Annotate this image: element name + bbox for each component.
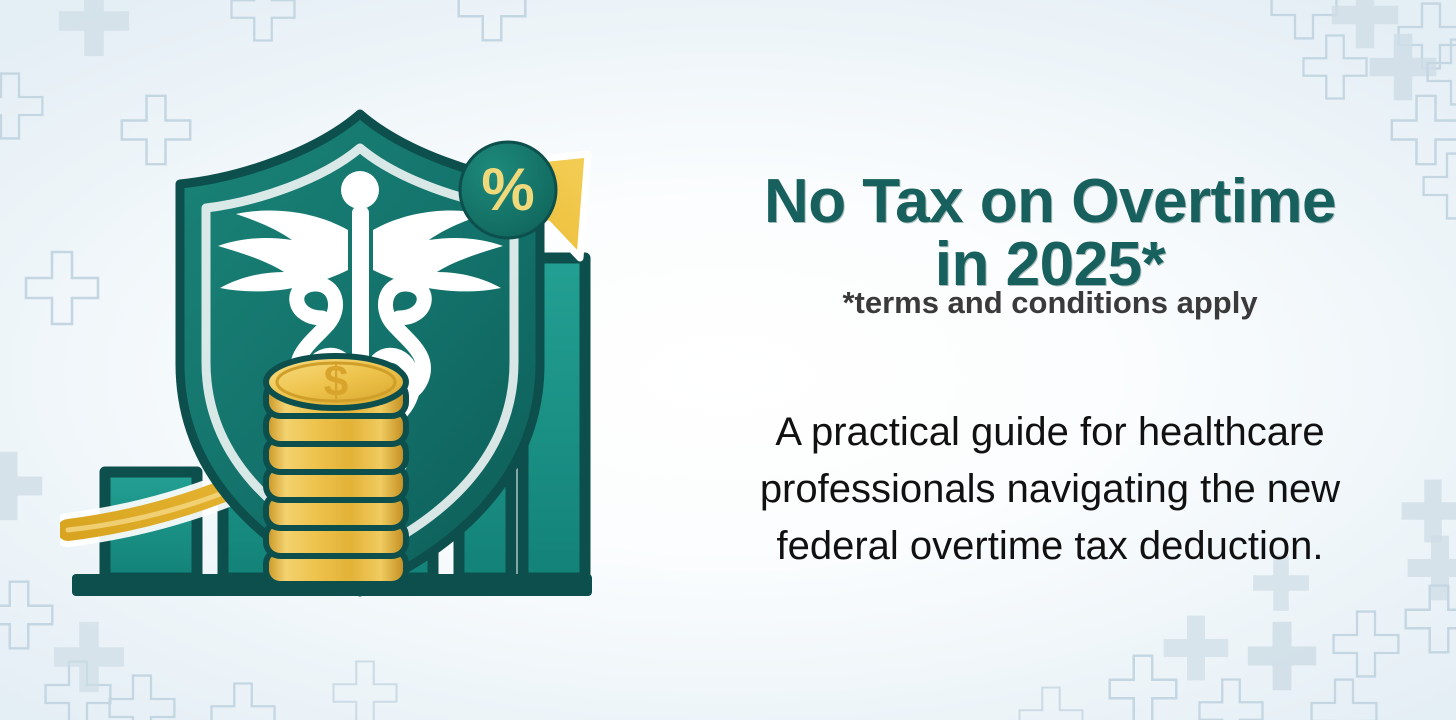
svg-text:$: $	[324, 357, 348, 406]
medical-cross-icon	[106, 672, 178, 720]
text-column: No Tax on Overtime in 2025* *terms and c…	[660, 0, 1440, 720]
svg-text:%: %	[481, 156, 534, 223]
body-line-3: federal overtime tax deduction.	[680, 518, 1420, 575]
medical-cross-icon	[0, 70, 46, 142]
medical-cross-icon	[208, 680, 278, 720]
body-line-2: professionals navigating the new	[680, 461, 1420, 518]
medical-cross-icon	[55, 0, 133, 60]
medical-cross-icon	[228, 0, 298, 44]
terms-note: *terms and conditions apply	[660, 285, 1440, 321]
page-title: No Tax on Overtime in 2025*	[660, 170, 1440, 296]
percent-badge: %	[460, 142, 556, 238]
medical-cross-icon	[42, 658, 114, 720]
coin-stack: $	[266, 356, 406, 584]
medical-cross-icon	[330, 658, 400, 720]
medical-cross-icon	[455, 0, 529, 44]
hero-illustration: % $	[60, 80, 660, 650]
coin-top: $	[266, 356, 406, 416]
medical-cross-icon	[0, 448, 46, 524]
medical-cross-icon	[0, 578, 56, 652]
caduceus-ball	[341, 171, 379, 209]
promo-banner: % $ No Tax on Overtime	[0, 0, 1456, 720]
headline-line-1: No Tax on Overtime	[764, 167, 1336, 236]
body-line-1: A practical guide for healthcare	[680, 404, 1420, 461]
body-description: A practical guide for healthcare profess…	[680, 404, 1420, 574]
